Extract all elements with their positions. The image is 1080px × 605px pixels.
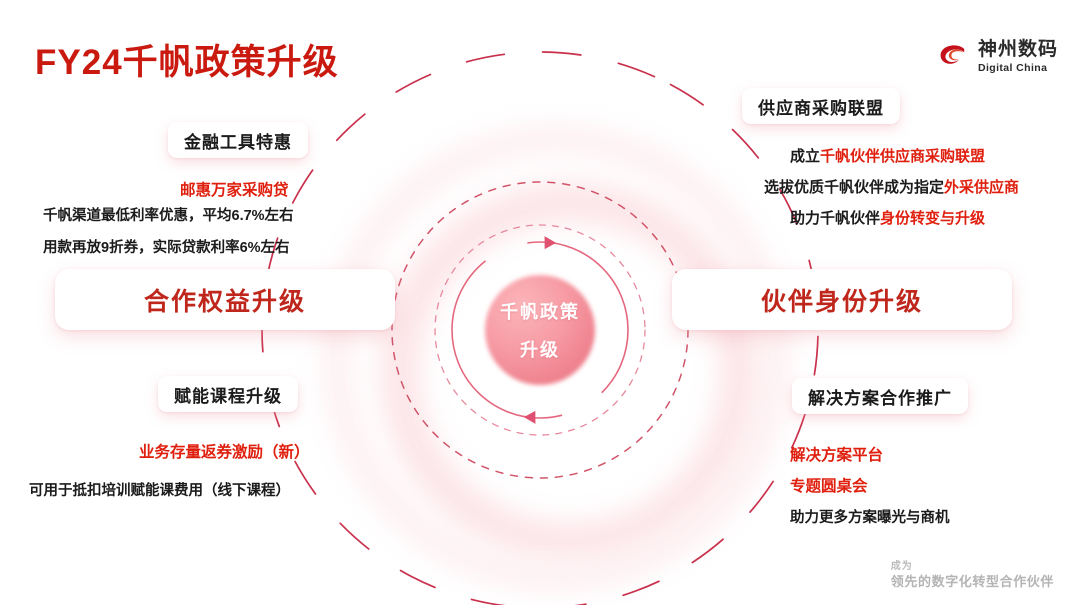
headline-financial-tools: 邮惠万家采购贷 — [180, 178, 289, 200]
logo-text-en: Digital China — [978, 63, 1058, 74]
center-core-text: 千帆政策 升级 — [432, 222, 648, 438]
detail-financial-tools-1: 千帆渠道最低利率优惠，平均6.7%左右 — [43, 204, 294, 225]
center-core-line2: 升级 — [520, 336, 560, 362]
headline-course-upgrade: 业务存量返券激励（新） — [139, 440, 310, 462]
tag-course-upgrade[interactable]: 赋能课程升级 — [158, 376, 298, 412]
tag-course-upgrade-label: 赋能课程升级 — [174, 382, 282, 407]
text-black: 成立 — [790, 148, 820, 165]
pill-partnership-benefits-label: 合作权益升级 — [144, 282, 306, 318]
logo-text-cn: 神州数码 — [978, 40, 1058, 59]
detail-course-upgrade-1: 可用于抵扣培训赋能课费用（线下课程） — [29, 479, 290, 500]
page-title: FY24千帆政策升级 — [35, 34, 339, 85]
tag-supplier-alliance[interactable]: 供应商采购联盟 — [742, 88, 900, 124]
tag-solution-promotion[interactable]: 解决方案合作推广 — [792, 378, 968, 414]
detail-financial-tools-2: 用款再放9折券，实际贷款利率6%左右 — [43, 236, 290, 257]
footer-slogan: 成为 领先的数字化转型合作伙伴 — [891, 560, 1054, 591]
footer-line-1: 成为 — [891, 560, 1054, 574]
detail-solution-platform: 解决方案平台 — [790, 443, 883, 465]
pill-partnership-benefits[interactable]: 合作权益升级 — [55, 269, 395, 330]
detail-solution-exposure: 助力更多方案曝光与商机 — [790, 506, 950, 527]
detail-roundtable: 专题圆桌会 — [790, 474, 868, 496]
pill-partner-identity[interactable]: 伙伴身份升级 — [672, 269, 1012, 330]
tag-supplier-alliance-label: 供应商采购联盟 — [758, 94, 884, 119]
text-red: 千帆伙伴供应商采购联盟 — [820, 148, 985, 165]
swirl-logo-icon — [935, 40, 969, 74]
pill-partner-identity-label: 伙伴身份升级 — [761, 282, 923, 318]
center-core-diagram: 千帆政策 升级 — [432, 222, 648, 438]
tag-financial-tools[interactable]: 金融工具特惠 — [168, 122, 308, 158]
text-red: 外采供应商 — [944, 179, 1019, 196]
center-core-line1: 千帆政策 — [500, 298, 580, 324]
detail-supplier-alliance-3: 助力千帆伙伴身份转变与升级 — [790, 207, 985, 228]
text-black: 助力千帆伙伴 — [790, 210, 880, 227]
tag-financial-tools-label: 金融工具特惠 — [184, 128, 292, 153]
footer-line-2: 领先的数字化转型合作伙伴 — [891, 573, 1054, 591]
text-black: 选拔优质千帆伙伴成为指定 — [764, 179, 944, 196]
slide-canvas: FY24千帆政策升级 神州数码 Digital China 金融工具特惠 邮惠万… — [0, 0, 1080, 605]
tag-solution-promotion-label: 解决方案合作推广 — [808, 384, 952, 409]
brand-logo: 神州数码 Digital China — [935, 40, 1058, 74]
detail-supplier-alliance-1: 成立千帆伙伴供应商采购联盟 — [790, 145, 985, 166]
text-red: 身份转变与升级 — [880, 210, 985, 227]
detail-supplier-alliance-2: 选拔优质千帆伙伴成为指定外采供应商 — [764, 176, 1019, 197]
